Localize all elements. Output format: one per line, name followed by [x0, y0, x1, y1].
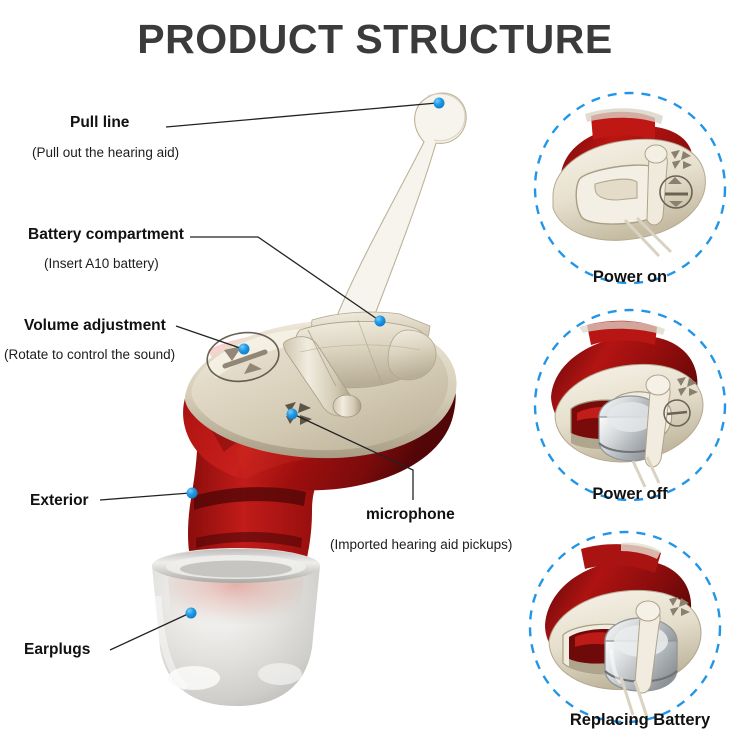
product-illustration — [0, 0, 750, 750]
pull-line-loop-icon — [337, 93, 466, 322]
earplug — [152, 548, 320, 706]
